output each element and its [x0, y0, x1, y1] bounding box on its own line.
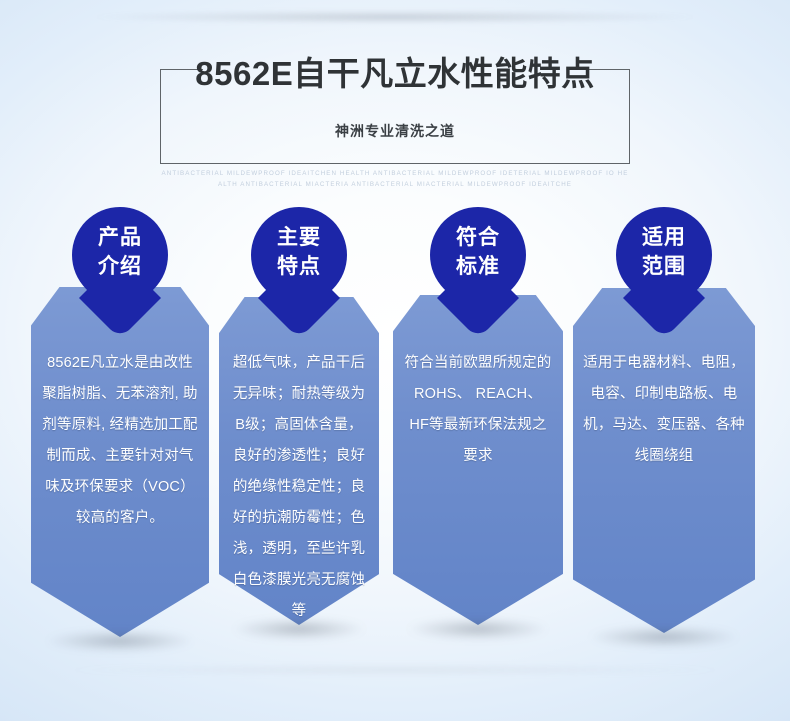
badge-label-3: 符合 标准 — [430, 223, 526, 281]
poster-canvas: 8562E自干凡立水性能特点 神洲专业清洗之道 ANTIBACTERIAL MI… — [0, 0, 790, 721]
badge-label-1: 产品 介绍 — [72, 223, 168, 281]
panel-body-2: 超低气味，产品干后无异味；耐热等级为B级；高固体含量，良好的渗透性；良好的绝缘性… — [228, 348, 370, 627]
badge-main-features[interactable]: 主要 特点 — [251, 207, 347, 303]
feature-columns: 8562E凡立水是由改性聚脂树脂、无苯溶剂, 助剂等原料, 经精选加工配制而成、… — [0, 0, 790, 721]
badge-product-intro[interactable]: 产品 介绍 — [72, 207, 168, 303]
badge-application[interactable]: 适用 范围 — [616, 207, 712, 303]
panel-body-4: 适用于电器材料、电阻，电容、印制电路板、电机，马达、变压器、各种线圈绕组 — [582, 348, 746, 472]
badge-label-2: 主要 特点 — [251, 223, 347, 281]
badge-standards[interactable]: 符合 标准 — [430, 207, 526, 303]
badge-label-4: 适用 范围 — [616, 223, 712, 281]
panel-body-1: 8562E凡立水是由改性聚脂树脂、无苯溶剂, 助剂等原料, 经精选加工配制而成、… — [40, 348, 200, 534]
panel-body-3: 符合当前欧盟所规定的ROHS、 REACH、 HF等最新环保法规之要求 — [402, 348, 554, 472]
